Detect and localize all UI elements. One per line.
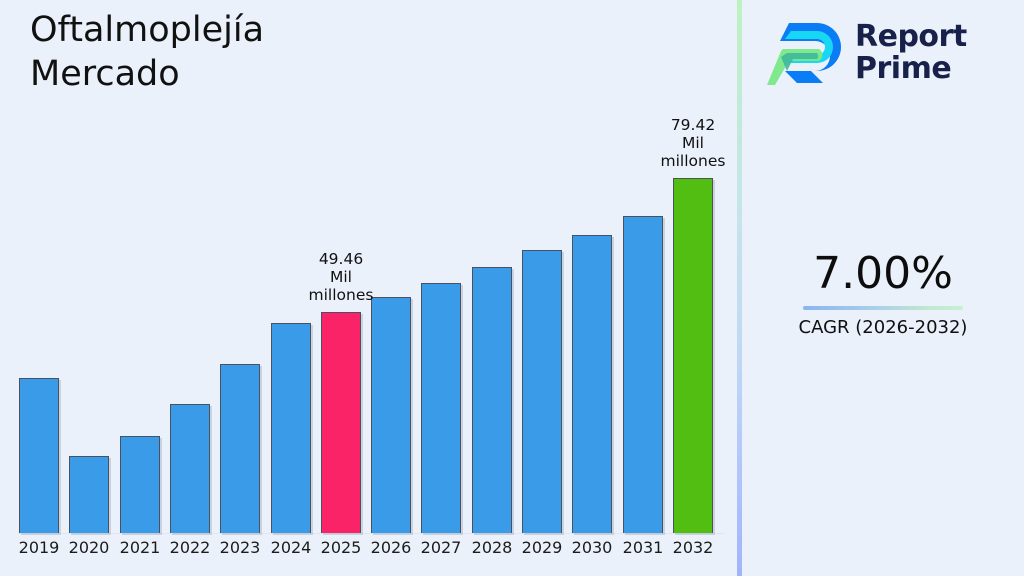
summary-panel: Report Prime 7.00% CAGR (2026-2032) — [742, 0, 1024, 576]
bar-2032[interactable] — [673, 178, 713, 533]
cagr-caption: CAGR (2026-2032) — [742, 316, 1024, 340]
x-tick-2027: 2027 — [416, 538, 466, 558]
report-prime-logo-mark — [767, 17, 845, 89]
x-tick-2024: 2024 — [266, 538, 316, 558]
cagr-divider-rule — [803, 306, 963, 310]
bar-2023[interactable] — [220, 364, 260, 533]
bar-2020[interactable] — [69, 456, 109, 533]
infographic-root: Oftalmoplejía Mercado 201920202021202220… — [0, 0, 1024, 576]
bar-2024[interactable] — [271, 323, 311, 533]
value-label-2025: 49.46 Mil millones — [286, 250, 396, 304]
x-tick-2023: 2023 — [215, 538, 265, 558]
bar-2031[interactable] — [623, 216, 663, 533]
x-tick-2032: 2032 — [668, 538, 718, 558]
bar-2028[interactable] — [472, 267, 512, 533]
bar-chart-plot: 2019202020212022202320242025202620272028… — [0, 0, 737, 576]
value-label-2032: 79.42 Mil millones — [638, 116, 748, 170]
x-tick-2028: 2028 — [467, 538, 517, 558]
bar-2029[interactable] — [522, 250, 562, 533]
bar-2027[interactable] — [421, 283, 461, 533]
x-tick-2022: 2022 — [165, 538, 215, 558]
bar-2021[interactable] — [120, 436, 160, 533]
bar-2019[interactable] — [19, 378, 59, 533]
x-tick-2025: 2025 — [316, 538, 366, 558]
bar-2025[interactable] — [321, 312, 361, 533]
x-tick-2029: 2029 — [517, 538, 567, 558]
cagr-block: 7.00% CAGR (2026-2032) — [742, 248, 1024, 340]
x-tick-2021: 2021 — [115, 538, 165, 558]
chart-panel: Oftalmoplejía Mercado 201920202021202220… — [0, 0, 737, 576]
brand-logo: Report Prime — [767, 12, 1007, 94]
x-tick-2026: 2026 — [366, 538, 416, 558]
x-tick-2031: 2031 — [618, 538, 668, 558]
cagr-value: 7.00% — [742, 248, 1024, 300]
brand-logo-text: Report Prime — [855, 21, 967, 85]
bar-2022[interactable] — [170, 404, 210, 533]
x-tick-2020: 2020 — [64, 538, 114, 558]
bar-2026[interactable] — [371, 297, 411, 533]
x-tick-2030: 2030 — [567, 538, 617, 558]
bar-2030[interactable] — [572, 235, 612, 533]
x-tick-2019: 2019 — [14, 538, 64, 558]
